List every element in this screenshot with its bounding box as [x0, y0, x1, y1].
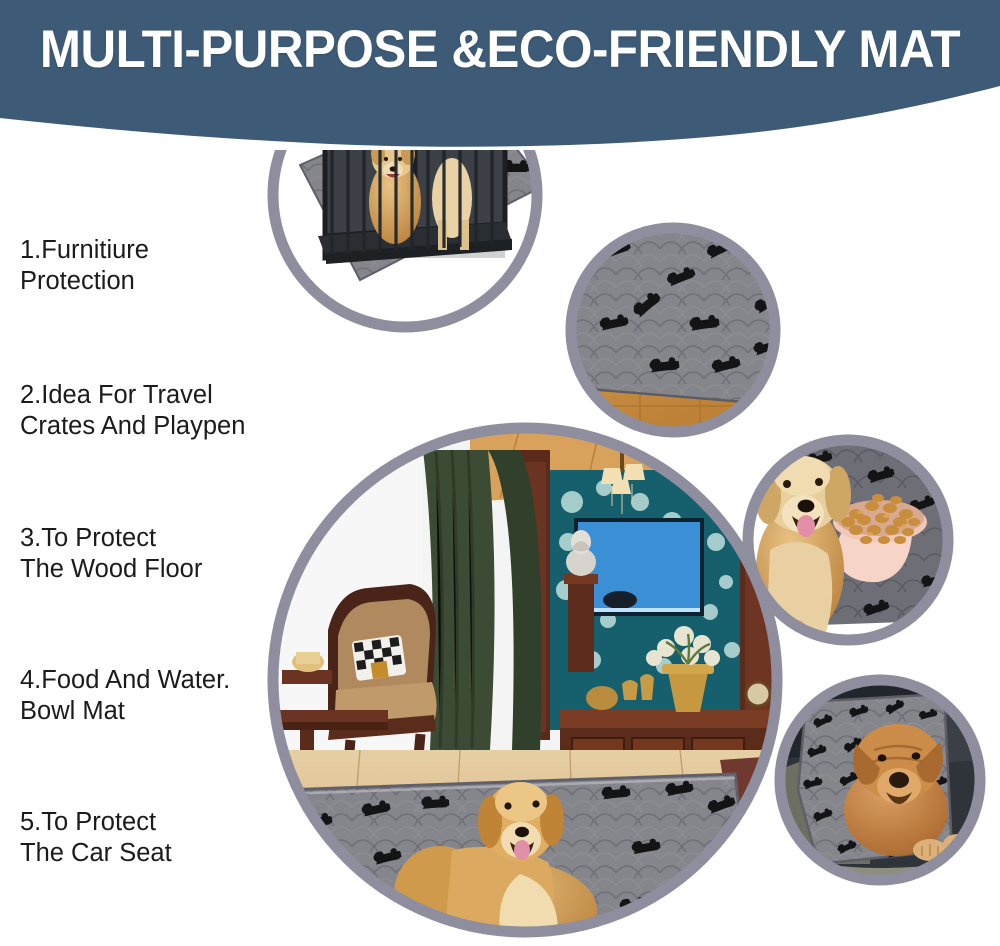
header-banner: MULTI-PURPOSE &ECO-FRIENDLY MAT	[0, 0, 1000, 160]
collage-svg	[0, 150, 1000, 946]
circle-living-room-scene	[273, 428, 780, 946]
circle-food-bowl-scene	[748, 440, 962, 648]
circle-car-seat-scene	[780, 680, 980, 890]
circle-crate-scene	[273, 150, 545, 327]
page-title: MULTI-PURPOSE &ECO-FRIENDLY MAT	[35, 22, 965, 78]
product-infographic: MULTI-PURPOSE &ECO-FRIENDLY MAT 1.Furnit…	[0, 0, 1000, 946]
image-collage	[0, 150, 1000, 946]
circle-wood-floor-scene	[560, 212, 800, 432]
